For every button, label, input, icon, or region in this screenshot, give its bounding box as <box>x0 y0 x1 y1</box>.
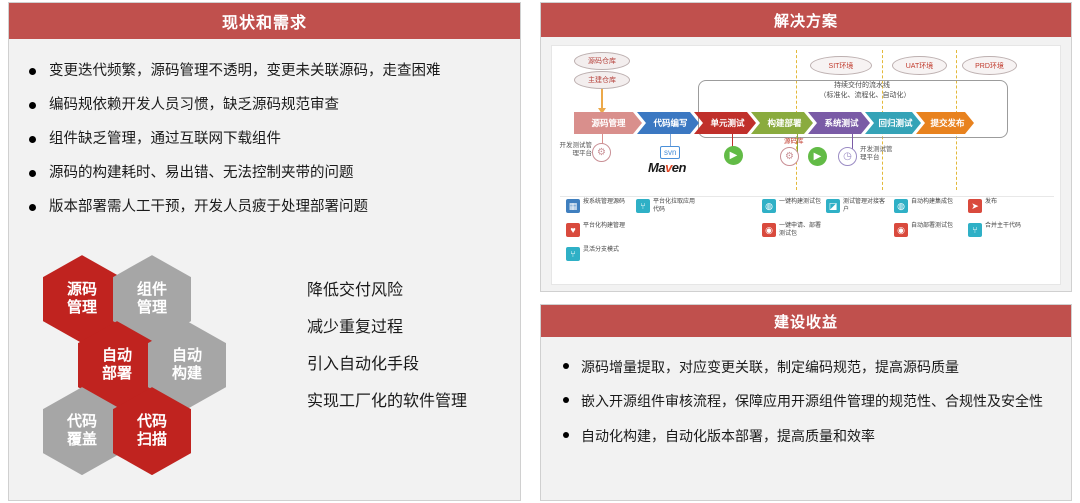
legend-item: ◉ 一键申请、部署测试包 <box>762 223 825 238</box>
cicd-pipeline-diagram: 源码仓库 主建仓库 SIT环境 UAT环境 PRD环境 持续交付的流水线 （标准… <box>551 45 1061 285</box>
list-item: 组件缺乏管理，通过互联网下载组件 <box>27 129 502 150</box>
play-icon-deploy-tool[interactable]: ▶ <box>808 147 827 166</box>
hexagon-label-line2: 管理 <box>137 299 167 317</box>
hexagon-label-line1: 自动 <box>172 347 202 365</box>
pipeline-stage-system-test[interactable]: 系统测试 <box>808 112 870 134</box>
legend-item: ⑂ 平台化拉取应用代码 <box>636 199 699 214</box>
list-item: 变更迭代频繁，源码管理不透明，变更未关联源码，走查困难 <box>27 61 502 82</box>
env-oval-sit: SIT环境 <box>810 56 872 75</box>
legend-label: 按系统管理源码 <box>583 199 629 207</box>
capability-hexagon-cluster: 源码 管理 组件 管理 自动 部署 自动 构建 代码 覆盖 <box>43 255 273 490</box>
pipeline-stage-row: 源码管理 代码编写 单元测试 构建部署 系统测试 回归测试 提交发布 <box>574 112 969 134</box>
hexagon-label-line1: 源码 <box>67 281 97 299</box>
branch-icon: ⑂ <box>566 247 580 261</box>
legend-label: 测试管理对接客户 <box>843 199 889 214</box>
package-icon: ◍ <box>762 199 776 213</box>
legend-item: ⑂ 合并主干代码 <box>968 223 1031 237</box>
list-item: 自动化构建，自动化版本部署，提高质量和效率 <box>561 426 1049 446</box>
pipeline-stage-release[interactable]: 提交发布 <box>916 112 974 134</box>
construction-benefit-panel: 建设收益 源码增量提取，对应变更关联，制定编码规范，提高源码质量 嵌入开源组件审… <box>540 304 1072 501</box>
list-item: 实现工厂化的软件管理 <box>307 394 467 410</box>
legend-label: 发布 <box>985 199 1031 207</box>
list-item: 编码规依赖开发人员习惯，缺乏源码规范审查 <box>27 95 502 116</box>
legend-label: 平台化构建管理 <box>583 223 629 231</box>
list-item: 嵌入开源组件审核流程，保障应用开源组件管理的规范性、合规性及安全性 <box>561 391 1049 411</box>
goal-list: 降低交付风险 减少重复过程 引入自动化手段 实现工厂化的软件管理 <box>307 283 467 431</box>
legend-item: ➤ 发布 <box>968 199 1031 213</box>
grid-icon: ▦ <box>566 199 580 213</box>
repo-oval-source: 源码仓库 <box>574 52 630 70</box>
tool-caption-source-repo: 源码库 <box>784 138 804 146</box>
benefit-title: 建设收益 <box>541 305 1071 337</box>
pipeline-stage-code-writing[interactable]: 代码编写 <box>637 112 699 134</box>
list-item: 源码的构建耗时、易出错、无法控制夹带的问题 <box>27 163 502 184</box>
list-item: 版本部署需人工干预，开发人员疲于处理部署问题 <box>27 197 502 218</box>
legend-item: ◉ 自动部署测试包 <box>894 223 957 237</box>
list-item: 减少重复过程 <box>307 320 467 336</box>
pipeline-stage-unit-test[interactable]: 单元测试 <box>694 112 756 134</box>
current-status-body: 变更迭代频繁，源码管理不透明，变更未关联源码，走查困难 编码规依赖开发人员习惯，… <box>9 39 520 500</box>
legend-label: 合并主干代码 <box>985 223 1031 231</box>
pipeline-stage-build-deploy[interactable]: 构建部署 <box>751 112 813 134</box>
legend-item: ⑂ 灵活分支模式 <box>566 247 629 261</box>
legend-item: ◪ 测试管理对接客户 <box>826 199 889 214</box>
legend-item: ◍ 一键构建测试包 <box>762 199 825 213</box>
continuous-delivery-label-line2: （标准化、流程化、自动化） <box>790 92 940 101</box>
heart-icon: ♥ <box>566 223 580 237</box>
svn-icon[interactable]: svn <box>660 146 680 159</box>
hexagon-label-line2: 覆盖 <box>67 431 97 449</box>
list-item: 降低交付风险 <box>307 283 467 299</box>
env-oval-prd: PRD环境 <box>962 56 1017 75</box>
tool-caption-dev-test-platform: 开发测试管理平台 <box>558 142 592 158</box>
legend-label: 灵活分支模式 <box>583 247 629 255</box>
legend-label: 平台化拉取应用代码 <box>653 199 699 214</box>
branch-icon: ⑂ <box>968 223 982 237</box>
slide-canvas: 现状和需求 变更迭代频繁，源码管理不透明，变更未关联源码，走查困难 编码规依赖开… <box>0 0 1080 503</box>
legend-label: 一键构建测试包 <box>779 199 825 207</box>
legend-item: ◍ 自动构建集成包 <box>894 199 957 213</box>
benefit-body: 源码增量提取，对应变更关联，制定编码规范，提高源码质量 嵌入开源组件审核流程，保… <box>541 337 1071 500</box>
list-item: 引入自动化手段 <box>307 357 467 373</box>
list-item: 源码增量提取，对应变更关联，制定编码规范，提高源码质量 <box>561 357 1049 377</box>
legend-label: 自动部署测试包 <box>911 223 957 231</box>
branch-icon: ⑂ <box>636 199 650 213</box>
solution-panel: 解决方案 源码仓库 主建仓库 SIT环境 UAT环境 PRD环境 持续交付 <box>540 2 1072 292</box>
hexagon-label-line2: 扫描 <box>137 431 167 449</box>
clock-icon-dev-test-platform[interactable]: ◷ <box>838 147 857 166</box>
current-status-title: 现状和需求 <box>9 3 520 39</box>
solution-body: 源码仓库 主建仓库 SIT环境 UAT环境 PRD环境 持续交付的流水线 （标准… <box>541 37 1071 291</box>
gear-icon-dev-test-platform[interactable]: ⚙ <box>592 143 611 162</box>
hexagon-label-line1: 组件 <box>137 281 167 299</box>
play-icon-unit-test-runner[interactable]: ▶ <box>724 146 743 165</box>
continuous-delivery-label-line1: 持续交付的流水线 <box>802 82 922 91</box>
env-oval-uat: UAT环境 <box>892 56 947 75</box>
hexagon-label-line2: 构建 <box>172 365 202 383</box>
record-icon: ◉ <box>762 223 776 237</box>
send-icon: ➤ <box>968 199 982 213</box>
package-icon: ◍ <box>894 199 908 213</box>
repo-oval-build: 主建仓库 <box>574 71 630 89</box>
benefit-bullet-list: 源码增量提取，对应变更关联，制定编码规范，提高源码质量 嵌入开源组件审核流程，保… <box>561 357 1049 446</box>
record-icon: ◉ <box>894 223 908 237</box>
edit-icon: ◪ <box>826 199 840 213</box>
repo-down-arrow <box>601 89 603 110</box>
legend-label: 自动构建集成包 <box>911 199 957 207</box>
hexagon-label-line1: 自动 <box>102 347 132 365</box>
legend-label: 一键申请、部署测试包 <box>779 223 825 238</box>
pipeline-stage-regression-test[interactable]: 回归测试 <box>865 112 921 134</box>
gear-icon-build-tool[interactable]: ⚙ <box>780 147 799 166</box>
hexagon-label-line1: 代码 <box>67 413 97 431</box>
hexagon-label-line2: 管理 <box>67 299 97 317</box>
current-status-bullet-list: 变更迭代频繁，源码管理不透明，变更未关联源码，走查困难 编码规依赖开发人员习惯，… <box>27 61 502 218</box>
hexagon-label-line2: 部署 <box>102 365 132 383</box>
hexagon-label-line1: 代码 <box>137 413 167 431</box>
legend-item: ♥ 平台化构建管理 <box>566 223 629 237</box>
pipeline-stage-source-management[interactable]: 源码管理 <box>574 112 642 134</box>
tool-caption-dev-test-platform-2: 开发测试管理平台 <box>860 146 893 162</box>
solution-title: 解决方案 <box>541 3 1071 37</box>
legend-item: ▦ 按系统管理源码 <box>566 199 629 213</box>
pipeline-legend: ▦ 按系统管理源码 ♥ 平台化构建管理 ⑂ 灵活分支模式 ⑂ 平台化拉取应用代码 <box>560 196 1054 282</box>
current-status-panel: 现状和需求 变更迭代频繁，源码管理不透明，变更未关联源码，走查困难 编码规依赖开… <box>8 2 521 501</box>
maven-logo: Maven <box>648 160 686 175</box>
